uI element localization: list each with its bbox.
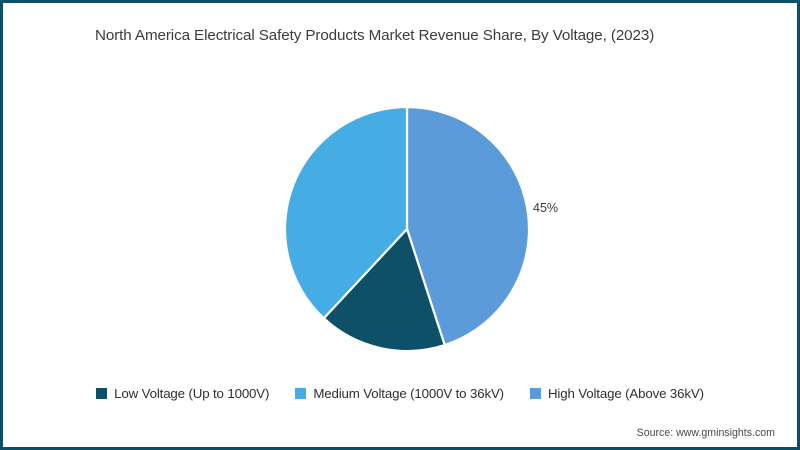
pie-slice-group — [285, 107, 529, 351]
page-title: North America Electrical Safety Products… — [95, 27, 735, 44]
legend-item-label: High Voltage (Above 36kV) — [548, 386, 704, 401]
source-attribution: Source: www.gminsights.com — [637, 427, 775, 439]
legend-item[interactable]: Medium Voltage (1000V to 36kV) — [295, 386, 504, 401]
legend-item-label: Low Voltage (Up to 1000V) — [114, 386, 269, 401]
chart-legend: Low Voltage (Up to 1000V)Medium Voltage … — [3, 386, 797, 401]
legend-item[interactable]: High Voltage (Above 36kV) — [530, 386, 704, 401]
legend-item[interactable]: Low Voltage (Up to 1000V) — [96, 386, 269, 401]
chart-figure: North America Electrical Safety Products… — [0, 0, 800, 450]
legend-swatch-icon — [530, 388, 541, 399]
legend-swatch-icon — [96, 388, 107, 399]
pie-chart — [283, 105, 533, 355]
legend-swatch-icon — [295, 388, 306, 399]
pie-data-label-high-voltage: 45% — [533, 201, 558, 215]
pie-chart-svg — [283, 105, 533, 355]
legend-item-label: Medium Voltage (1000V to 36kV) — [313, 386, 504, 401]
